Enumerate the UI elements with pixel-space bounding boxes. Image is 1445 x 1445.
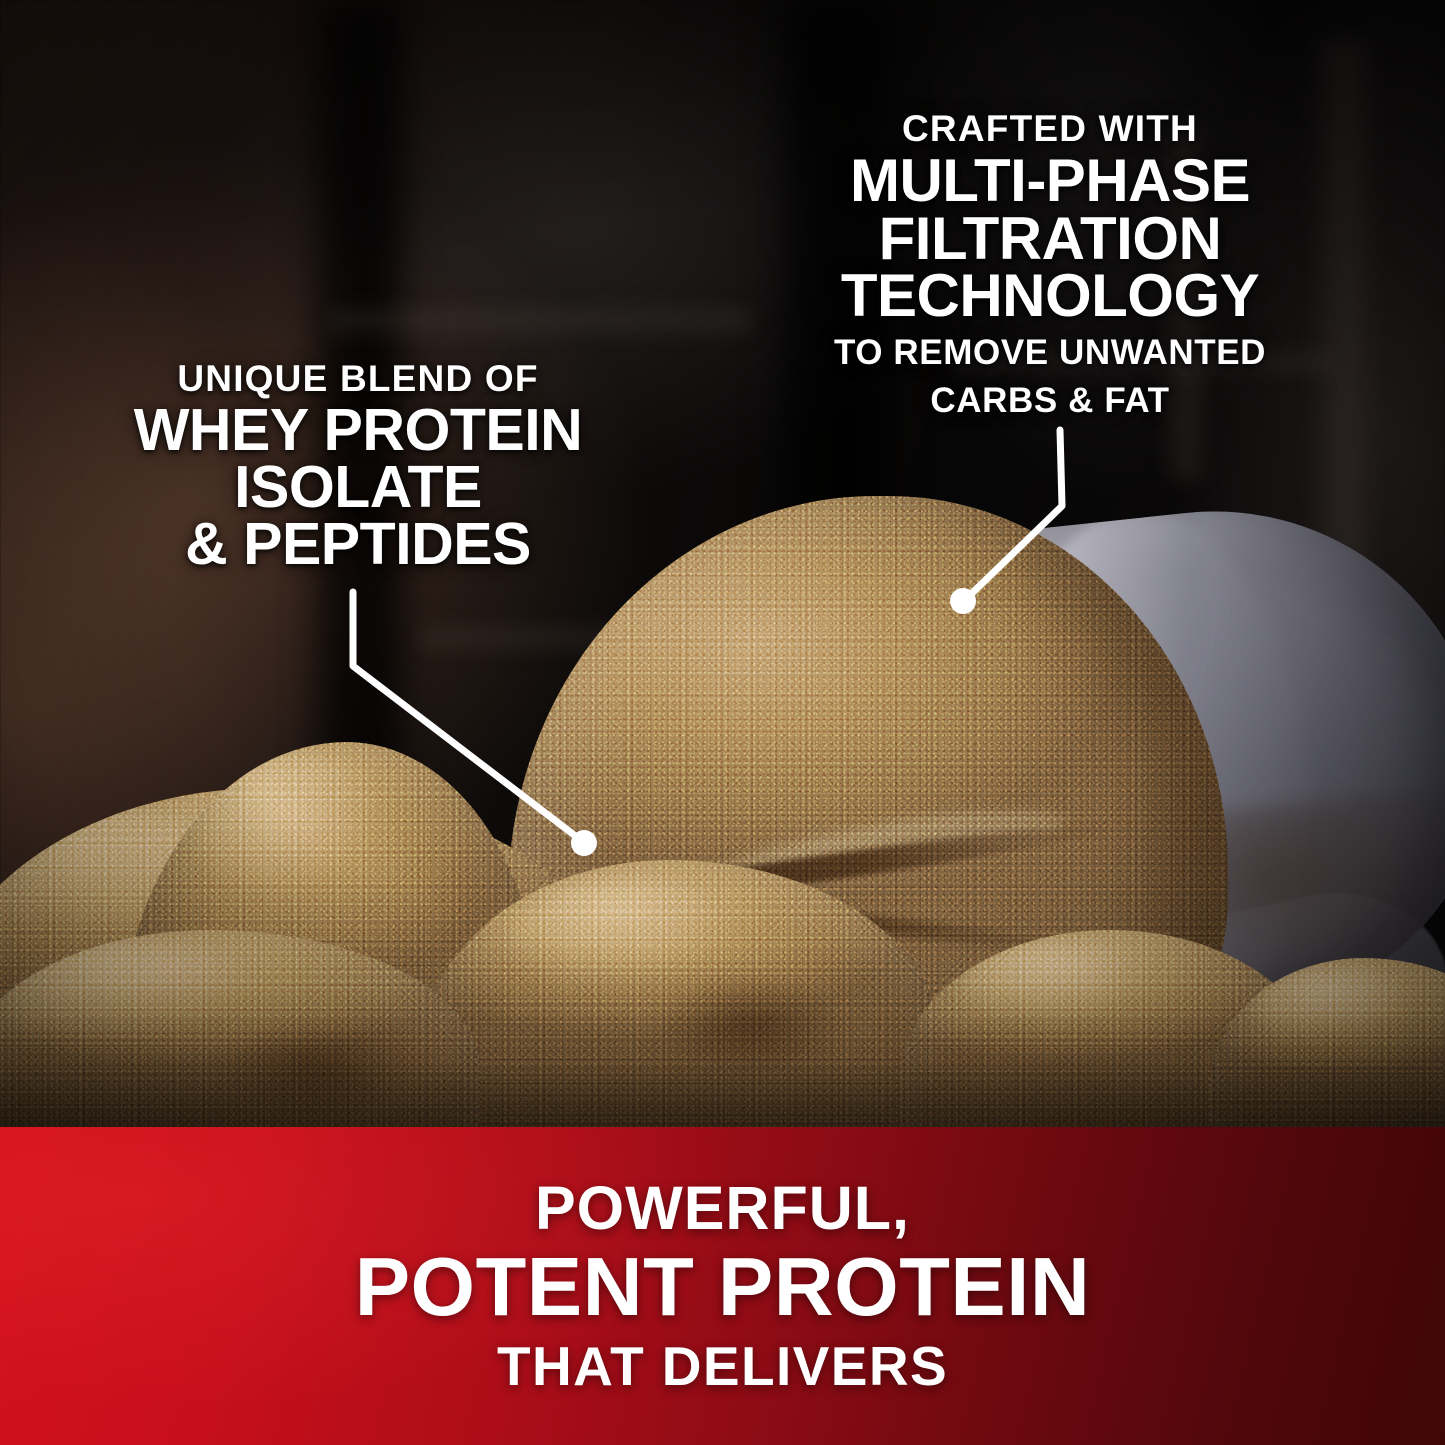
- bottom-banner: POWERFUL, POTENT PROTEIN THAT DELIVERS: [0, 1127, 1445, 1445]
- callout-left-line-2: ISOLATE: [78, 459, 638, 516]
- banner-line-1: POWERFUL,: [535, 1178, 910, 1239]
- product-photo: CRAFTED WITH MULTI-PHASE FILTRATION TECH…: [0, 0, 1445, 1127]
- callout-left-eyebrow: UNIQUE BLEND OF: [78, 360, 638, 397]
- callout-right-footer-2: CARBS & FAT: [760, 381, 1340, 421]
- banner-line-3: THAT DELIVERS: [497, 1339, 948, 1394]
- callout-left-line-1: WHEY PROTEIN: [78, 402, 638, 459]
- callout-right-eyebrow: CRAFTED WITH: [760, 110, 1340, 147]
- callout-left-line-3: & PEPTIDES: [78, 516, 638, 573]
- callout-right-line-3: TECHNOLOGY: [760, 267, 1340, 325]
- callout-right-footer-1: TO REMOVE UNWANTED: [760, 333, 1340, 373]
- callout-left: UNIQUE BLEND OF WHEY PROTEIN ISOLATE & P…: [78, 360, 638, 574]
- callout-right-line-1: MULTI-PHASE: [760, 152, 1340, 210]
- callout-right: CRAFTED WITH MULTI-PHASE FILTRATION TECH…: [760, 110, 1340, 421]
- banner-line-2: POTENT PROTEIN: [355, 1245, 1091, 1330]
- callout-right-line-2: FILTRATION: [760, 210, 1340, 268]
- feature-graphic: CRAFTED WITH MULTI-PHASE FILTRATION TECH…: [0, 0, 1445, 1445]
